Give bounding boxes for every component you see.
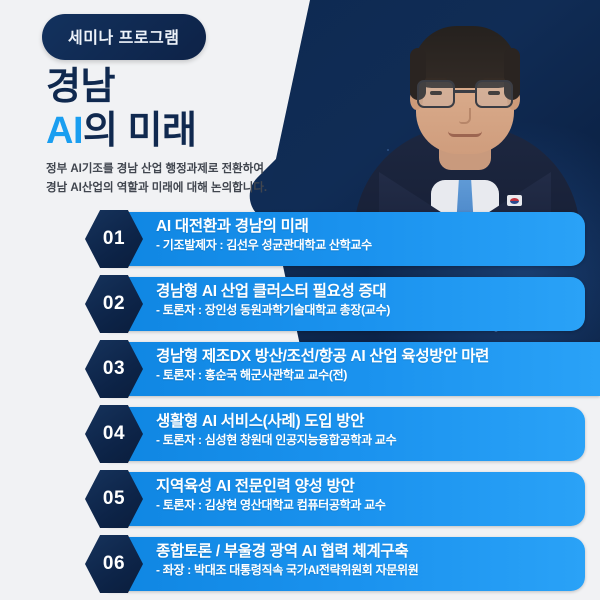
- portrait-flag-pin-icon: [507, 195, 522, 206]
- program-row-text: 경남형 AI 산업 클러스터 필요성 증대- 토론자 : 장인성 동원과학기술대…: [156, 282, 390, 319]
- program-row-subtitle: - 토론자 : 심성현 창원대 인공지능융합공학과 교수: [156, 433, 396, 449]
- program-row-subtitle: - 토론자 : 김상현 영산대학교 컴퓨터공학과 교수: [156, 498, 386, 514]
- program-row[interactable]: 03경남형 제조DX 방산/조선/항공 AI 산업 육성방안 마련- 토론자 :…: [0, 342, 600, 396]
- program-row-text: 종합토론 / 부울경 광역 AI 협력 체계구축- 좌장 : 박대조 대통령직속…: [156, 542, 419, 579]
- page-title-line1: 경남: [46, 68, 115, 106]
- program-row-title: AI 대전환과 경남의 미래: [156, 217, 372, 236]
- portrait-nose: [459, 108, 471, 124]
- portrait-glasses-icon: [417, 80, 513, 110]
- program-row-title: 경남형 AI 산업 클러스터 필요성 증대: [156, 282, 390, 301]
- program-row-subtitle: - 기조발제자 : 김선우 성균관대학교 산학교수: [156, 238, 372, 254]
- program-row[interactable]: 01AI 대전환과 경남의 미래- 기조발제자 : 김선우 성균관대학교 산학교…: [0, 212, 600, 266]
- program-row-title: 지역육성 AI 전문인력 양성 방안: [156, 477, 386, 496]
- program-row-text: 경남형 제조DX 방산/조선/항공 AI 산업 육성방안 마련- 토론자 : 홍…: [156, 347, 489, 384]
- page-title-line2: AI의 미래: [46, 112, 196, 150]
- title-ai-highlight: AI: [46, 110, 83, 152]
- program-row-text: 생활형 AI 서비스(사례) 도입 방안- 토론자 : 심성현 창원대 인공지능…: [156, 412, 396, 449]
- seminar-badge: 세미나 프로그램: [42, 14, 206, 60]
- page-subtitle: 정부 AI기조를 경남 산업 행정과제로 전환하여 경남 AI산업의 역할과 미…: [46, 160, 267, 198]
- program-row-text: AI 대전환과 경남의 미래- 기조발제자 : 김선우 성균관대학교 산학교수: [156, 217, 372, 254]
- seminar-program-poster: 세미나 프로그램 경남 AI의 미래 정부 AI기조를 경남 산업 행정과제로 …: [0, 0, 600, 600]
- program-row-subtitle: - 토론자 : 장인성 동원과학기술대학교 총장(교수): [156, 303, 390, 319]
- program-row[interactable]: 05지역육성 AI 전문인력 양성 방안- 토론자 : 김상현 영산대학교 컴퓨…: [0, 472, 600, 526]
- glasses-bridge: [455, 90, 475, 93]
- program-row-title: 경남형 제조DX 방산/조선/항공 AI 산업 육성방안 마련: [156, 347, 489, 366]
- program-row-text: 지역육성 AI 전문인력 양성 방안- 토론자 : 김상현 영산대학교 컴퓨터공…: [156, 477, 386, 514]
- glasses-lens-right: [475, 80, 513, 108]
- glasses-lens-left: [417, 80, 455, 108]
- program-list: 01AI 대전환과 경남의 미래- 기조발제자 : 김선우 성균관대학교 산학교…: [0, 212, 600, 600]
- program-row[interactable]: 06종합토론 / 부울경 광역 AI 협력 체계구축- 좌장 : 박대조 대통령…: [0, 537, 600, 591]
- subtitle-line-2: 경남 AI산업의 역할과 미래에 대해 논의합니다.: [46, 179, 267, 198]
- program-row-subtitle: - 좌장 : 박대조 대통령직속 국가AI전략위원회 자문위원: [156, 563, 419, 579]
- subtitle-line-1: 정부 AI기조를 경남 산업 행정과제로 전환하여: [46, 160, 267, 179]
- program-row-subtitle: - 토론자 : 홍순국 해군사관학교 교수(전): [156, 368, 489, 384]
- speaker-portrait: [330, 0, 600, 230]
- program-row-title: 생활형 AI 서비스(사례) 도입 방안: [156, 412, 396, 431]
- portrait-mouth: [448, 131, 482, 137]
- program-row-title: 종합토론 / 부울경 광역 AI 협력 체계구축: [156, 542, 419, 561]
- title-line2-rest: 의 미래: [83, 110, 196, 152]
- program-row[interactable]: 02경남형 AI 산업 클러스터 필요성 증대- 토론자 : 장인성 동원과학기…: [0, 277, 600, 331]
- program-row[interactable]: 04생활형 AI 서비스(사례) 도입 방안- 토론자 : 심성현 창원대 인공…: [0, 407, 600, 461]
